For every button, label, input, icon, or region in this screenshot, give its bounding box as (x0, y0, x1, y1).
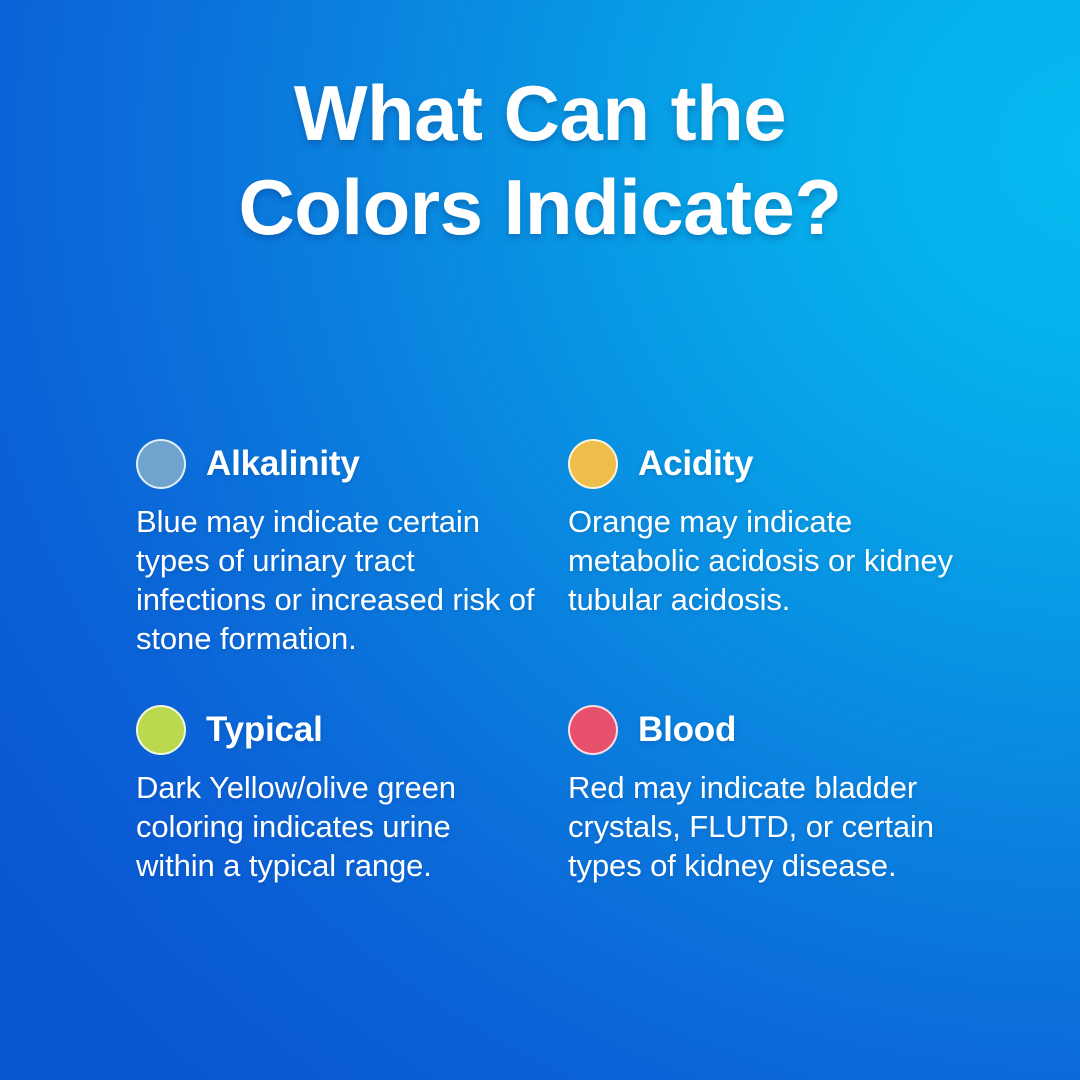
red-swatch-icon (568, 705, 618, 755)
infographic-poster: What Can the Colors Indicate? Alkalinity… (0, 0, 1080, 1080)
legend-card-header: Alkalinity (136, 436, 556, 492)
page-title: What Can the Colors Indicate? (0, 66, 1080, 254)
legend-card-alkalinity: Alkalinity Blue may indicate certain typ… (136, 436, 556, 658)
legend-card-typical: Typical Dark Yellow/olive green coloring… (136, 702, 556, 885)
legend-card-description: Red may indicate bladder crystals, FLUTD… (568, 768, 968, 885)
legend-card-header: Blood (568, 702, 988, 758)
page-title-line-1: What Can the (60, 66, 1020, 160)
legend-card-header: Typical (136, 702, 556, 758)
legend-card-title: Typical (206, 710, 323, 750)
legend-card-blood: Blood Red may indicate bladder crystals,… (568, 702, 988, 885)
legend-card-title: Alkalinity (206, 444, 360, 484)
legend-card-header: Acidity (568, 436, 988, 492)
orange-swatch-icon (568, 439, 618, 489)
legend-card-title: Acidity (638, 444, 753, 484)
legend-card-description: Blue may indicate certain types of urina… (136, 502, 536, 658)
page-title-line-2: Colors Indicate? (60, 160, 1020, 254)
blue-swatch-icon (136, 439, 186, 489)
color-legend-grid: Alkalinity Blue may indicate certain typ… (136, 436, 996, 885)
green-swatch-icon (136, 705, 186, 755)
legend-card-acidity: Acidity Orange may indicate metabolic ac… (568, 436, 988, 658)
legend-card-description: Dark Yellow/olive green coloring indicat… (136, 768, 536, 885)
legend-card-title: Blood (638, 710, 736, 750)
legend-card-description: Orange may indicate metabolic acidosis o… (568, 502, 968, 619)
